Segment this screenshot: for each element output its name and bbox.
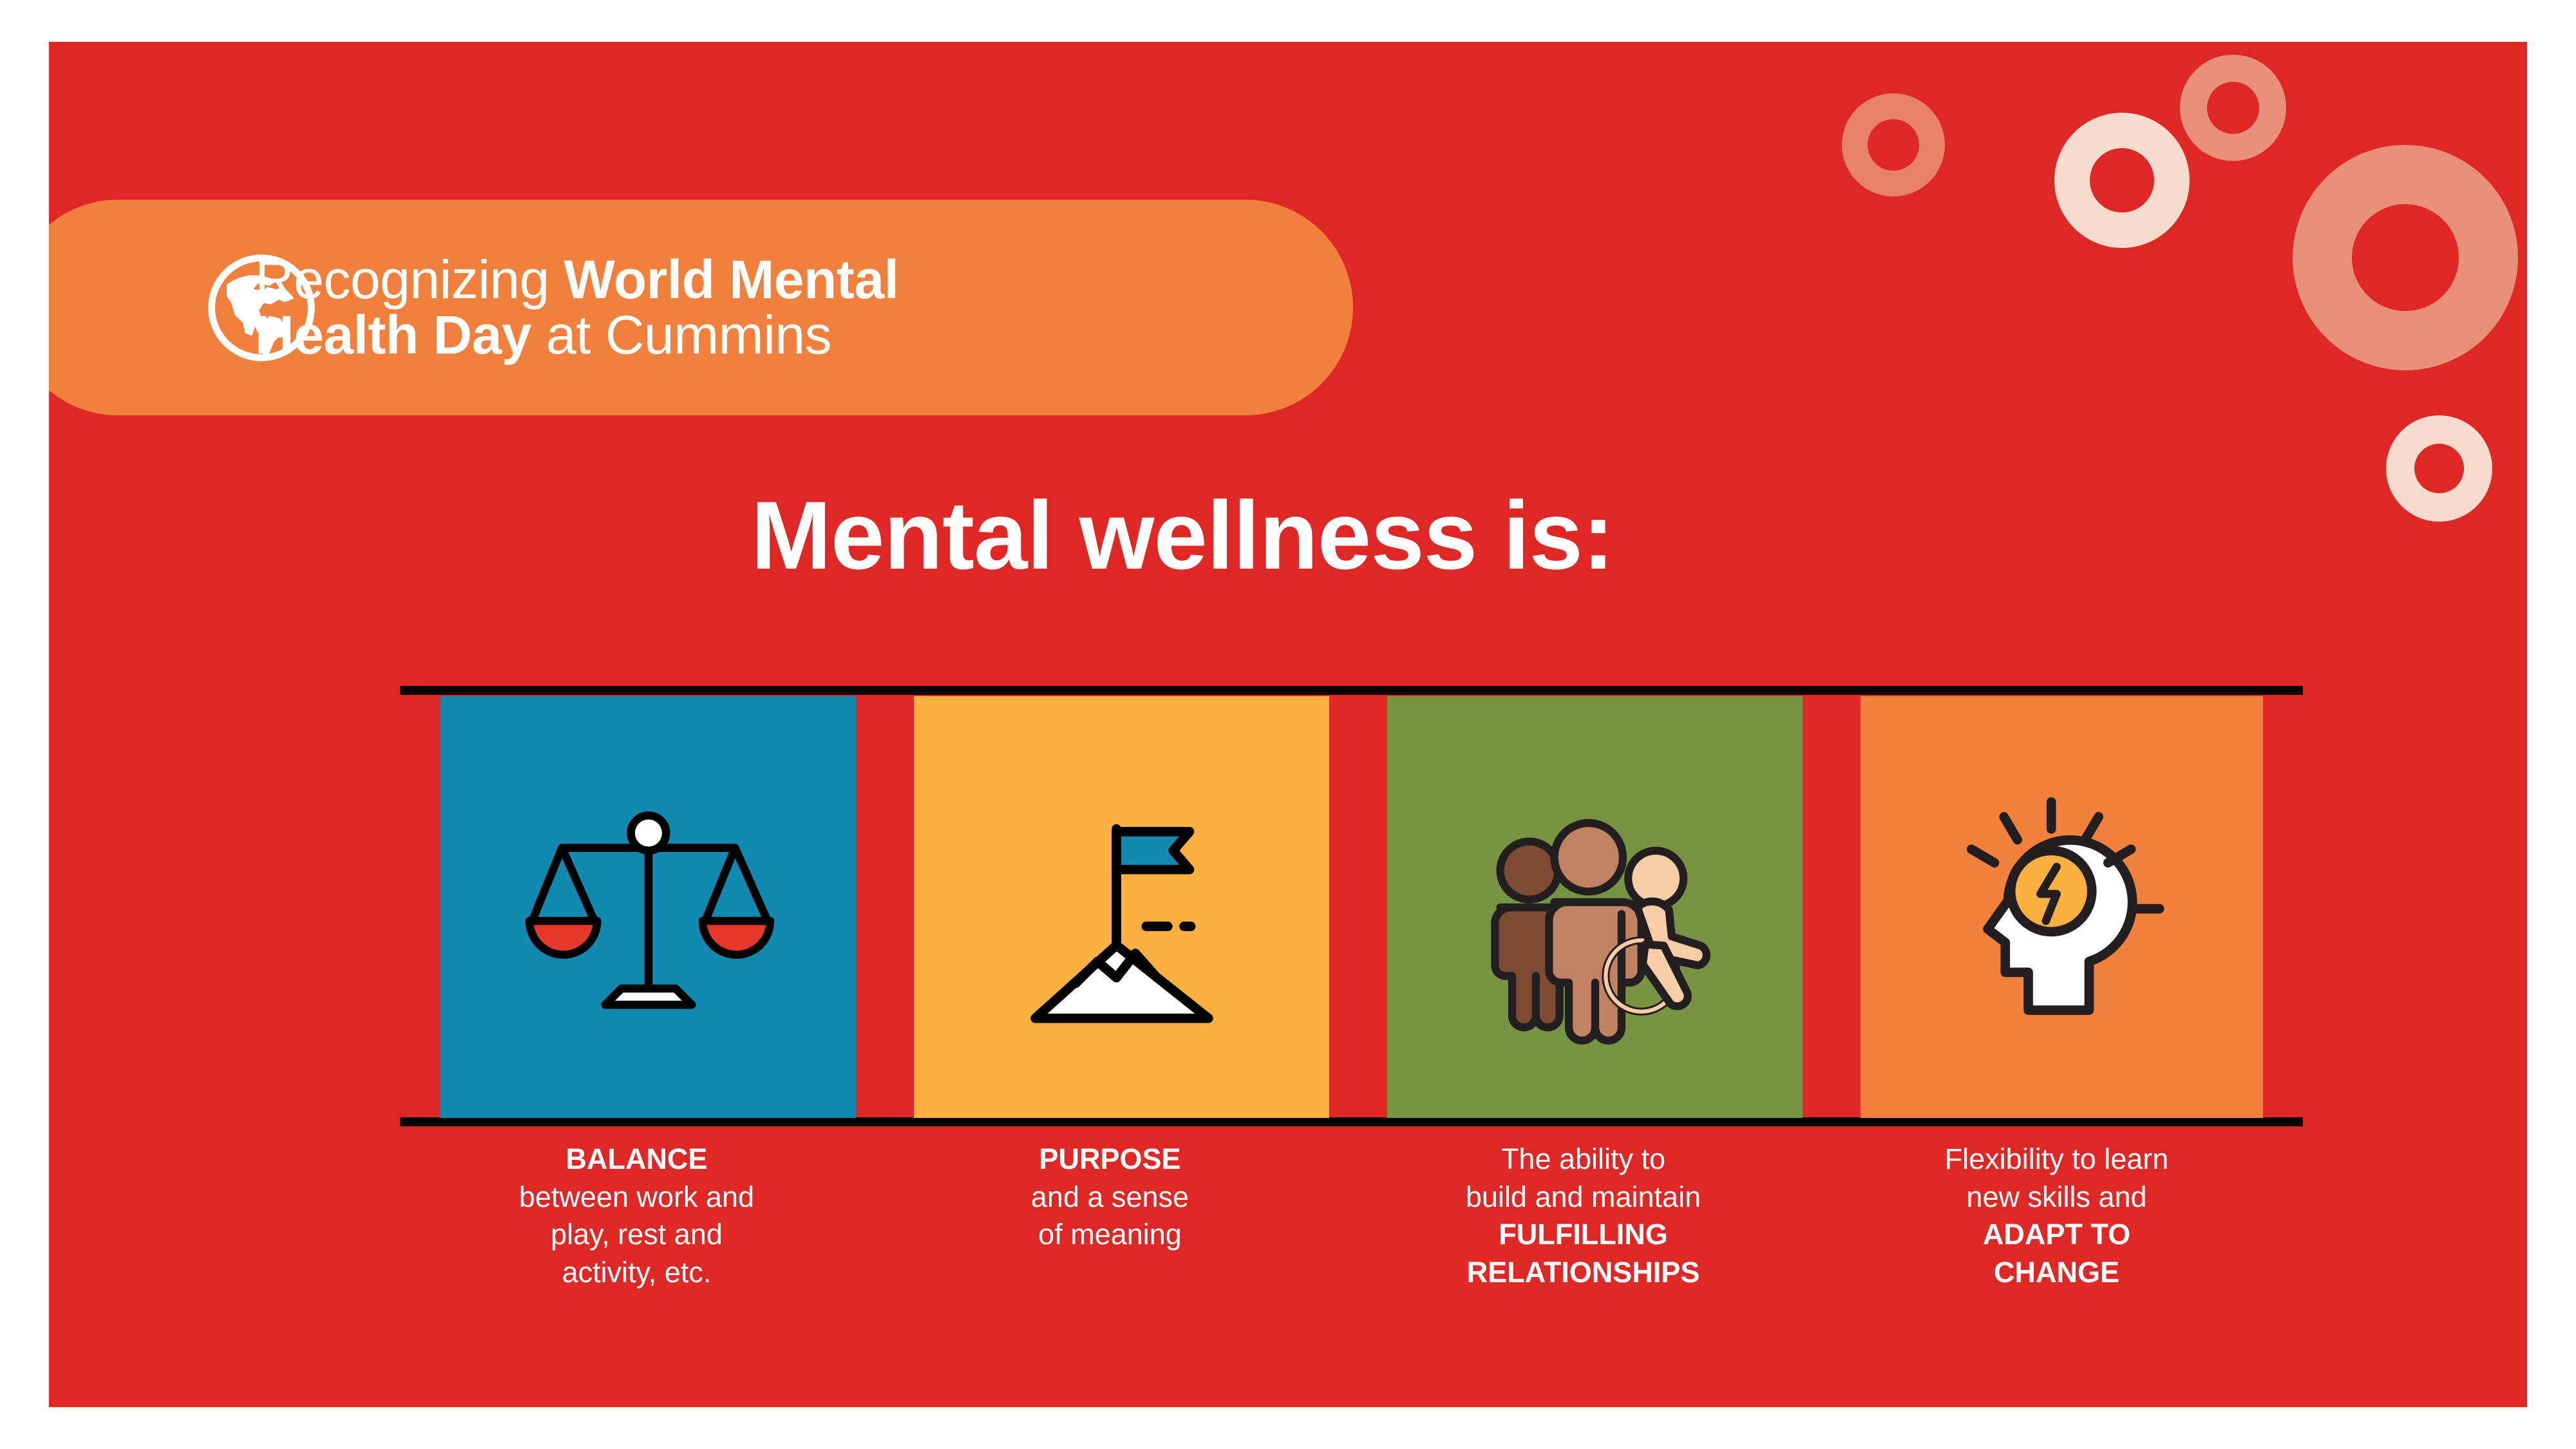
caption-line: FULFILLING bbox=[1347, 1216, 1820, 1254]
red-background-panel: Recognizing World Mental Health Day at C… bbox=[49, 42, 2527, 1407]
caption-line: Flexibility to learn bbox=[1820, 1141, 2293, 1179]
banner-line1-bold: World Mental bbox=[564, 249, 899, 310]
caption-line: The ability to bbox=[1347, 1141, 1820, 1179]
divider-rule-top bbox=[400, 686, 2303, 695]
caption-line: activity, etc. bbox=[400, 1254, 873, 1292]
caption-line: PURPOSE bbox=[873, 1141, 1347, 1179]
ring-small-top bbox=[2180, 55, 2286, 161]
icon-panel-purpose bbox=[914, 696, 1329, 1118]
banner-title-text: Recognizing World Mental Health Day at C… bbox=[255, 252, 898, 363]
caption-line: CHANGE bbox=[1820, 1254, 2293, 1292]
caption-row: BALANCEbetween work andplay, rest andact… bbox=[400, 1141, 2303, 1385]
icon-panel-strip bbox=[440, 696, 2263, 1118]
group-of-people-icon bbox=[1457, 769, 1734, 1046]
balance-scale-icon bbox=[513, 772, 784, 1043]
title-banner: Recognizing World Mental Health Day at C… bbox=[49, 200, 1353, 415]
page-title: Mental wellness is: bbox=[49, 480, 2316, 591]
caption-line: and a sense bbox=[873, 1179, 1347, 1217]
mountain-flag-icon bbox=[987, 772, 1257, 1043]
caption-line: ADAPT TO bbox=[1820, 1216, 2293, 1254]
banner-title-line-2: Health Day at Cummins bbox=[255, 308, 898, 363]
caption-relationships: The ability tobuild and maintainFULFILLI… bbox=[1347, 1141, 1820, 1291]
caption-line: BALANCE bbox=[400, 1141, 873, 1179]
caption-change: Flexibility to learnnew skills andADAPT … bbox=[1820, 1141, 2293, 1291]
caption-line: play, rest and bbox=[400, 1216, 873, 1254]
ring-small-left bbox=[1842, 93, 1945, 196]
icon-panel-balance bbox=[440, 696, 856, 1118]
globe-icon bbox=[204, 250, 319, 366]
banner-line2-regular: at Cummins bbox=[531, 305, 831, 365]
caption-line: build and maintain bbox=[1347, 1179, 1820, 1217]
infographic-canvas: Recognizing World Mental Health Day at C… bbox=[0, 0, 2576, 1449]
caption-balance: BALANCEbetween work andplay, rest andact… bbox=[400, 1141, 873, 1291]
caption-line: of meaning bbox=[873, 1216, 1347, 1254]
ring-medium-pale bbox=[2054, 113, 2190, 248]
divider-rule-bottom bbox=[400, 1117, 2303, 1126]
caption-line: RELATIONSHIPS bbox=[1347, 1254, 1820, 1292]
caption-line: between work and bbox=[400, 1179, 873, 1217]
caption-purpose: PURPOSEand a senseof meaning bbox=[873, 1141, 1347, 1254]
ring-large bbox=[2293, 145, 2518, 370]
icon-panel-change bbox=[1861, 696, 2263, 1118]
caption-line: new skills and bbox=[1820, 1179, 2293, 1217]
ring-small-low bbox=[2386, 415, 2492, 522]
icon-panel-relationships bbox=[1387, 696, 1803, 1118]
head-idea-icon bbox=[1927, 772, 2197, 1043]
banner-title-line-1: Recognizing World Mental bbox=[255, 252, 898, 308]
